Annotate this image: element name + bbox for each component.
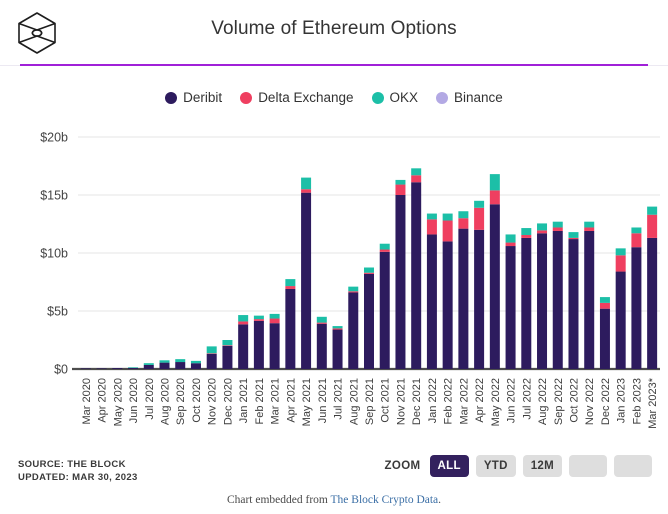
updated-text: UPDATED: MAR 30, 2023 [18,471,138,484]
bar-segment[interactable] [395,185,405,195]
bar-segment[interactable] [270,319,280,324]
bar-segment[interactable] [160,363,170,369]
chart-widget: Volume of Ethereum Options Deribit Delta… [0,0,668,514]
x-axis-tick-label: Jun 2022 [506,378,518,423]
bar-segment[interactable] [458,218,468,228]
bar-segment[interactable] [427,234,437,369]
bar-segment[interactable] [285,279,295,286]
bar-segment[interactable] [144,363,154,365]
x-axis-tick-label: Mar 2021 [270,378,282,424]
bar-segment[interactable] [537,230,547,233]
x-axis-tick-label: Sep 2021 [364,378,376,425]
bar-segment[interactable] [238,315,248,321]
bar-segment[interactable] [521,235,531,238]
bar-segment[interactable] [631,227,641,233]
chart-header: Volume of Ethereum Options [0,0,668,60]
y-axis-tick-label: $10b [40,247,68,261]
x-axis-tick-label: Oct 2021 [380,378,392,423]
bar-segment[interactable] [568,239,578,369]
bar-segment[interactable] [207,353,217,354]
embed-prefix: Chart embedded from [227,494,331,506]
embed-suffix: . [438,494,441,506]
x-axis-tick-label: Aug 2020 [160,378,172,425]
legend-item-deribit[interactable]: Deribit [165,90,222,105]
bar-segment[interactable] [616,255,626,271]
bar-segment[interactable] [254,321,264,369]
y-axis-tick-label: $15b [40,189,68,203]
bar-segment[interactable] [301,193,311,369]
x-axis-tick-label: Jul 2021 [333,378,345,420]
x-axis-tick-label: Aug 2022 [537,378,549,425]
bar-segment[interactable] [317,317,327,323]
legend-label: Binance [454,90,503,105]
bar-segment[interactable] [490,174,500,190]
x-axis-tick-label: Feb 2023 [631,378,643,424]
page-title: Volume of Ethereum Options [0,18,668,40]
bar-segment[interactable] [553,222,563,228]
x-axis-tick-label: Jun 2020 [128,378,140,423]
x-axis-tick-label: Dec 2022 [600,378,612,425]
bar-segment[interactable] [506,246,516,369]
bar-segment[interactable] [348,291,358,292]
bar-segment[interactable] [207,354,217,369]
bar-segment[interactable] [474,230,484,369]
bar-segment[interactable] [521,238,531,369]
bar-segment[interactable] [364,273,374,274]
x-axis-tick-label: Feb 2021 [254,378,266,424]
x-axis-tick-label: Dec 2020 [222,378,234,425]
x-axis-tick-label: Jun 2021 [317,378,329,423]
chart-plot-area: $0$5b$10b$15b$20bMar 2020Apr 2020May 202… [0,0,668,514]
bar-segment[interactable] [160,360,170,362]
x-axis-tick-label: Jan 2023 [616,378,628,423]
bar-segment[interactable] [521,228,531,235]
y-axis-tick-label: $20b [40,131,68,145]
bar-segment[interactable] [128,368,138,369]
zoom-button-all[interactable]: ALL [430,455,469,477]
bar-segment[interactable] [443,214,453,221]
x-axis-tick-label: Mar 2022 [458,378,470,424]
x-axis-tick-label: Mar 2020 [81,378,93,424]
zoom-controls: ZOOM ALL YTD 12M [384,455,652,477]
bar-segment[interactable] [333,326,343,328]
bar-segment[interactable] [364,268,374,273]
bar-segment[interactable] [395,180,405,185]
bar-segment[interactable] [616,272,626,369]
bar-segment[interactable] [616,248,626,255]
bar-segment[interactable] [175,362,185,369]
bar-segment[interactable] [631,247,641,369]
x-axis-tick-label: Oct 2020 [191,378,203,423]
bar-segment[interactable] [301,189,311,192]
bar-segment[interactable] [317,324,327,369]
zoom-button-blank-2[interactable] [614,455,652,477]
bar-segment[interactable] [411,168,421,175]
bar-segment[interactable] [584,231,594,369]
legend-label: Deribit [183,90,222,105]
embed-note: Chart embedded from The Block Crypto Dat… [0,494,668,506]
bar-segment[interactable] [490,204,500,369]
x-axis-tick-label: Aug 2021 [348,378,360,425]
bar-segment[interactable] [584,227,594,230]
bar-segment[interactable] [380,244,390,250]
bar-segment[interactable] [647,238,657,369]
bar-segment[interactable] [537,223,547,230]
bar-segment[interactable] [427,219,437,234]
zoom-button-ytd[interactable]: YTD [476,455,516,477]
bar-segment[interactable] [191,361,201,363]
y-axis-tick-label: $0 [54,363,68,377]
legend-item-binance[interactable]: Binance [436,90,503,105]
bar-segment[interactable] [348,287,358,292]
legend-dot-icon [436,92,448,104]
bar-segment[interactable] [506,243,516,246]
x-axis-tick-label: Nov 2021 [395,378,407,425]
x-axis-tick-label: Feb 2022 [443,378,455,424]
bar-segment[interactable] [600,309,610,369]
legend-item-okx[interactable]: OKX [372,90,419,105]
x-axis-tick-label: Nov 2020 [207,378,219,425]
bar-segment[interactable] [647,215,657,238]
bar-segment[interactable] [364,274,374,369]
x-axis-tick-label: Apr 2021 [285,378,297,423]
bar-segment[interactable] [238,321,248,324]
x-axis-tick-label: May 2020 [112,378,124,426]
divider-accent [20,64,648,66]
bar-segment[interactable] [395,195,405,369]
zoom-button-blank-1[interactable] [569,455,607,477]
x-axis-tick-label: Apr 2020 [97,378,109,423]
bar-segment[interactable] [238,324,248,369]
bar-segment[interactable] [647,207,657,215]
bar-segment[interactable] [568,232,578,238]
chart-svg: $0$5b$10b$15b$20bMar 2020Apr 2020May 202… [0,0,668,514]
x-axis-tick-label: Dec 2021 [411,378,423,425]
bar-segment[interactable] [128,367,138,368]
x-axis-tick-label: May 2021 [301,378,313,426]
bar-segment[interactable] [222,340,232,345]
bar-segment[interactable] [553,227,563,230]
legend-dot-icon [240,92,252,104]
legend-label: Delta Exchange [258,90,353,105]
bar-segment[interactable] [81,368,91,369]
bar-segment[interactable] [301,178,311,190]
chart-source-info: SOURCE: THE BLOCK UPDATED: MAR 30, 2023 [18,458,138,484]
bar-segment[interactable] [553,231,563,369]
bar-segment[interactable] [348,292,358,369]
x-axis-tick-label: Oct 2022 [568,378,580,423]
y-axis-tick-label: $5b [47,305,68,319]
bar-segment[interactable] [317,323,327,324]
bar-segment[interactable] [600,303,610,309]
bar-segment[interactable] [112,368,122,369]
x-axis-tick-label: Jul 2020 [144,378,156,420]
bar-segment[interactable] [380,252,390,369]
bar-segment[interactable] [506,234,516,242]
bar-segment[interactable] [458,211,468,218]
zoom-label: ZOOM [384,460,420,472]
bar-segment[interactable] [458,229,468,369]
x-axis-tick-label: Sep 2022 [553,378,565,425]
chart-legend: Deribit Delta Exchange OKX Binance [0,90,668,105]
bar-segment[interactable] [584,222,594,228]
zoom-button-12m[interactable]: 12M [523,455,562,477]
bar-segment[interactable] [631,233,641,247]
x-axis-tick-label: Jul 2022 [521,378,533,420]
bar-segment[interactable] [254,319,264,321]
bar-segment[interactable] [270,314,280,319]
bar-segment[interactable] [490,190,500,204]
x-axis-tick-label: Mar 2023* [647,377,659,428]
bar-segment[interactable] [411,182,421,369]
bar-segment[interactable] [333,328,343,329]
x-axis-tick-label: Apr 2022 [474,378,486,423]
bar-segment[interactable] [380,250,390,252]
bar-segment[interactable] [411,175,421,182]
x-axis-tick-label: May 2022 [490,378,502,426]
bar-segment[interactable] [285,289,295,369]
source-text: SOURCE: THE BLOCK [18,458,138,471]
x-axis-tick-label: Nov 2022 [584,378,596,425]
bar-segment[interactable] [222,345,232,346]
legend-label: OKX [390,90,419,105]
bar-segment[interactable] [175,359,185,362]
x-axis-tick-label: Jan 2021 [238,378,250,423]
bar-segment[interactable] [443,221,453,242]
bar-segment[interactable] [474,201,484,208]
legend-item-delta-exchange[interactable]: Delta Exchange [240,90,353,105]
bar-segment[interactable] [443,241,453,369]
x-axis-tick-label: Jan 2022 [427,378,439,423]
bar-segment[interactable] [254,316,264,319]
x-axis-tick-label: Sep 2020 [175,378,187,425]
bar-segment[interactable] [207,346,217,353]
bar-segment[interactable] [285,286,295,289]
bar-segment[interactable] [270,323,280,369]
header-divider [0,64,668,67]
embed-link[interactable]: The Block Crypto Data [331,494,439,506]
bar-segment[interactable] [333,330,343,369]
bar-segment[interactable] [222,346,232,369]
bar-segment[interactable] [474,208,484,230]
legend-dot-icon [165,92,177,104]
bar-segment[interactable] [427,214,437,220]
legend-dot-icon [372,92,384,104]
bar-segment[interactable] [191,363,201,369]
bar-segment[interactable] [144,365,154,369]
bar-segment[interactable] [97,368,107,369]
bar-segment[interactable] [600,297,610,303]
bar-segment[interactable] [537,233,547,369]
bar-segment[interactable] [568,238,578,239]
